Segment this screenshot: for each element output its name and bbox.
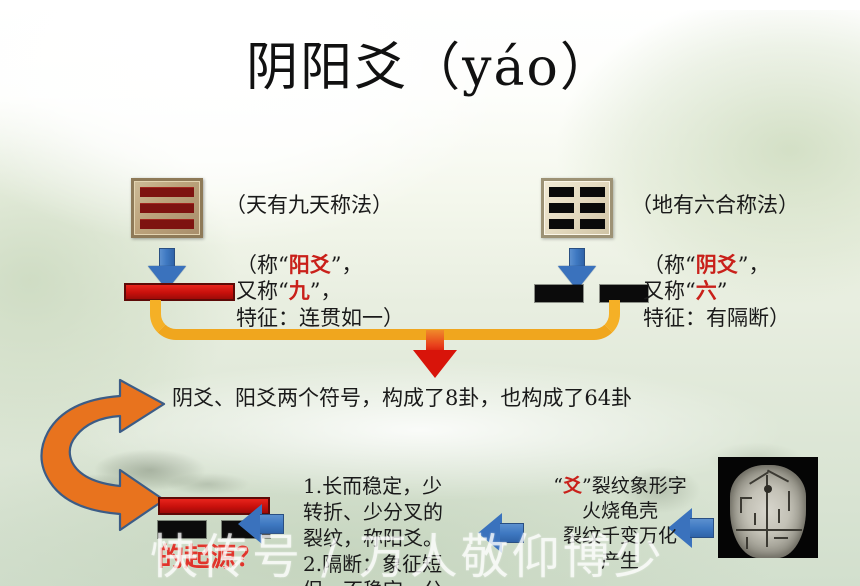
arrow-shaft	[159, 248, 175, 268]
yin-seg	[580, 219, 605, 229]
yang-trigram-plate	[131, 178, 203, 238]
yin-seg	[580, 187, 605, 197]
yang-plate-bar-2	[140, 203, 194, 213]
yang-line-symbol	[124, 283, 235, 301]
yang-plate-bar-1	[140, 187, 194, 197]
shell-crack	[754, 513, 756, 525]
yin-seg	[580, 203, 605, 213]
shell-crack	[788, 491, 790, 511]
down-arrow-icon-right	[558, 248, 596, 290]
shell-crack	[778, 509, 780, 523]
circular-arrow-path	[41, 380, 164, 530]
shell-crack	[740, 497, 742, 513]
background-top-edge	[0, 0, 860, 10]
circular-arrow-svg	[24, 370, 174, 540]
yin-seg	[549, 187, 574, 197]
slide-canvas: 阴阳爻（yáo） （天有九天称法） （称“阳爻”， 又称“九”， 特征：连贯如一…	[0, 0, 860, 586]
yin-plate-row-3	[549, 219, 605, 229]
yin-seg	[549, 203, 574, 213]
red-down-arrow-icon	[413, 330, 457, 378]
arrow-head	[413, 350, 457, 378]
yin-plate-row-1	[549, 187, 605, 197]
arrow-shaft	[569, 248, 585, 268]
arrow-shaft	[426, 330, 444, 352]
connector-curve	[150, 300, 620, 340]
middle-statement: 阴爻、阳爻两个符号，构成了8卦，也构成了64卦	[172, 385, 632, 411]
yellow-connector	[150, 300, 620, 352]
circular-double-arrow-icon	[24, 370, 174, 540]
watermark: 快传号 / 万人敬仰博少	[150, 528, 860, 586]
yin-seg	[549, 219, 574, 229]
di-label: （地有六合称法）	[631, 192, 799, 218]
yin-trigram-plate	[541, 178, 613, 238]
shell-divot	[764, 485, 772, 493]
tian-label: （天有九天称法）	[225, 192, 393, 218]
yin-plate-row-2	[549, 203, 605, 213]
yang-plate-bar-3	[140, 219, 194, 229]
page-title: 阴阳爻（yáo）	[0, 42, 860, 94]
shell-crack	[740, 497, 752, 499]
yin-description: （称“阴爻”， 又称“六” 特征：有隔断）	[643, 252, 790, 331]
